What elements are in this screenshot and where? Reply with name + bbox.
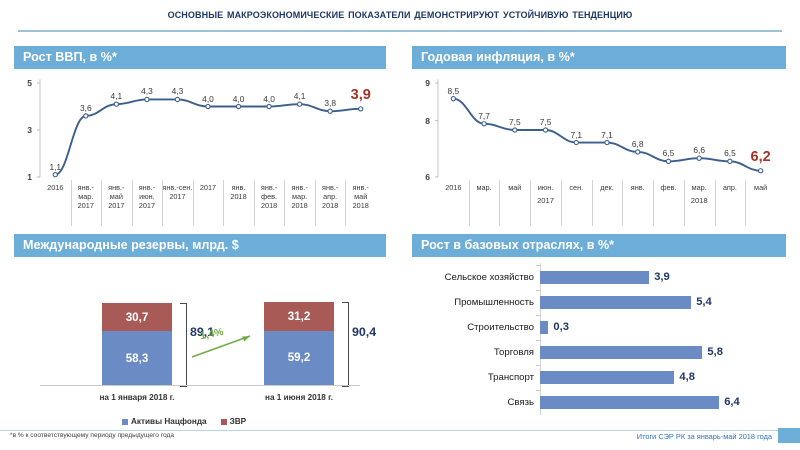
gdp-category-label: янв.-сен. 2017 bbox=[162, 183, 193, 201]
inflation-category-label: сен. bbox=[561, 183, 592, 192]
gdp-point-label: 4,3 bbox=[160, 86, 194, 96]
gdp-category-label: янв.- мар. 2018 bbox=[284, 183, 315, 210]
gdp-category-label: янв.- июн. 2017 bbox=[132, 183, 163, 210]
sector-bar bbox=[540, 396, 719, 409]
legend-item: ЗВР bbox=[221, 417, 247, 426]
gdp-category-separator bbox=[101, 180, 102, 226]
gdp-point-label: 3,6 bbox=[69, 103, 103, 113]
inflation-category-label: янв. bbox=[622, 183, 653, 192]
panel-gdp-growth: Рост ВВП, в %* 5311,13,64,14,34,34,04,04… bbox=[14, 46, 386, 239]
sector-value-label: 5,4 bbox=[691, 296, 712, 308]
sector-name-label: Промышленность bbox=[412, 297, 540, 308]
gdp-category-separator bbox=[162, 180, 163, 226]
inflation-category-label: май bbox=[499, 183, 530, 192]
panel-gdp-header: Рост ВВП, в %* bbox=[14, 46, 386, 69]
gdp-category-separator bbox=[254, 180, 255, 226]
sector-value-label: 3,9 bbox=[649, 271, 670, 283]
inflation-point-label: 7,7 bbox=[467, 111, 501, 121]
slide-root: Основные макроэкономические показатели д… bbox=[0, 0, 800, 450]
footnote: *в % к соответствующему периоду предыдущ… bbox=[10, 432, 174, 439]
gdp-category-separator bbox=[71, 180, 72, 226]
inflation-point-label: 6,5 bbox=[651, 148, 685, 158]
sectors-axis-tick bbox=[536, 290, 541, 291]
gdp-point-label: 4,3 bbox=[130, 86, 164, 96]
sector-bar bbox=[540, 371, 674, 384]
panel-reserves-header: Международные резервы, млрд. $ bbox=[14, 234, 386, 257]
gdp-category-separator bbox=[315, 180, 316, 226]
panel-inflation-header: Годовая инфляция, в %* bbox=[412, 46, 786, 69]
gdp-chart: 5311,13,64,14,34,34,04,04,04,13,83,92016… bbox=[14, 69, 386, 239]
sector-value-label: 0,3 bbox=[548, 321, 569, 333]
sectors-axis-tick bbox=[536, 265, 541, 266]
inflation-point-label: 7,1 bbox=[590, 130, 624, 140]
reserves-growth-arrow bbox=[14, 257, 386, 429]
inflation-point-label: 6,2 bbox=[741, 149, 781, 165]
inflation-point-label: 6,6 bbox=[682, 145, 716, 155]
sector-bar-row: Транспорт4,8 bbox=[412, 369, 786, 385]
inflation-category-label: фев. bbox=[653, 183, 684, 192]
sector-bar bbox=[540, 271, 649, 284]
gdp-point-label: 4,0 bbox=[191, 94, 225, 104]
inflation-point-label: 8,5 bbox=[436, 86, 470, 96]
sector-value-label: 6,4 bbox=[719, 396, 740, 408]
panel-inflation: Годовая инфляция, в %* 9868,57,77,57,57,… bbox=[412, 46, 786, 239]
inflation-chart: 9868,57,77,57,57,17,16,86,56,66,56,22016… bbox=[412, 69, 786, 239]
gdp-point-label: 4,0 bbox=[222, 94, 256, 104]
inflation-point-label: 7,5 bbox=[529, 117, 563, 127]
sectors-axis-tick bbox=[536, 340, 541, 341]
sector-bar-row: Строительство0,3 bbox=[412, 319, 786, 335]
gdp-category-label: янв.- фев. 2018 bbox=[254, 183, 285, 210]
gdp-category-label: янв.- мар. 2017 bbox=[71, 183, 102, 210]
sector-bar-row: Торговля5,8 bbox=[412, 344, 786, 360]
sector-bar bbox=[540, 296, 691, 309]
footer-accent-tab bbox=[778, 428, 800, 443]
gdp-category-separator bbox=[132, 180, 133, 226]
sector-bar-row: Связь6,4 bbox=[412, 394, 786, 410]
sector-name-label: Транспорт bbox=[412, 372, 540, 383]
gdp-category-label: янв.- май 2017 bbox=[101, 183, 132, 210]
sector-name-label: Связь bbox=[412, 397, 540, 408]
gdp-category-label: янв. 2018 bbox=[223, 183, 254, 201]
sectors-chart: Сельское хозяйство3,9Промышленность5,4Ст… bbox=[412, 257, 786, 429]
inflation-category-label: апр. bbox=[715, 183, 746, 192]
gdp-point-label: 1,1 bbox=[38, 162, 72, 172]
footer-divider bbox=[0, 430, 800, 431]
sector-name-label: Сельское хозяйство bbox=[412, 272, 540, 283]
sector-bar-row: Сельское хозяйство3,9 bbox=[412, 269, 786, 285]
sector-value-label: 5,8 bbox=[702, 346, 723, 358]
inflation-category-label: мар. bbox=[684, 183, 715, 192]
sector-value-label: 4,8 bbox=[674, 371, 695, 383]
gdp-category-separator bbox=[345, 180, 346, 226]
inflation-year-group-label: 2018 bbox=[622, 196, 776, 205]
gdp-category-label: 2016 bbox=[40, 183, 71, 192]
sectors-axis bbox=[540, 263, 541, 415]
inflation-point-label: 7,5 bbox=[498, 117, 532, 127]
gdp-point-label: 4,1 bbox=[283, 91, 317, 101]
reserves-chart: 30,758,389,1на 1 января 2018 г.31,259,29… bbox=[14, 257, 386, 429]
panel-sector-growth: Рост в базовых отраслях, в %* Сельское х… bbox=[412, 234, 786, 429]
legend-label: Активы Нацфонда bbox=[131, 417, 207, 426]
inflation-point-label: 6,8 bbox=[621, 139, 655, 149]
gdp-category-label: янв.- май 2018 bbox=[345, 183, 376, 210]
legend-item: Активы Нацфонда bbox=[122, 417, 207, 426]
gdp-point-label: 4,1 bbox=[99, 91, 133, 101]
legend-label: ЗВР bbox=[230, 417, 247, 426]
gdp-category-label: янв.- апр. 2018 bbox=[315, 183, 346, 210]
gdp-category-separator bbox=[223, 180, 224, 226]
sector-name-label: Строительство bbox=[412, 322, 540, 333]
inflation-category-label: 2016 bbox=[438, 183, 469, 192]
sectors-axis-tick bbox=[536, 390, 541, 391]
inflation-point-label: 7,1 bbox=[559, 130, 593, 140]
panel-sectors-header: Рост в базовых отраслях, в %* bbox=[412, 234, 786, 257]
sector-bar-row: Промышленность5,4 bbox=[412, 294, 786, 310]
page-title: Основные макроэкономические показатели д… bbox=[0, 6, 800, 21]
title-divider bbox=[18, 30, 782, 32]
gdp-category-separator bbox=[193, 180, 194, 226]
gdp-point-label: 4,0 bbox=[252, 94, 286, 104]
gdp-category-separator bbox=[284, 180, 285, 226]
reserves-legend: Активы НацфондаЗВР bbox=[122, 417, 246, 426]
inflation-category-label: май bbox=[745, 183, 776, 192]
inflation-category-label: дек. bbox=[592, 183, 623, 192]
gdp-point-label: 3,9 bbox=[341, 87, 381, 103]
gdp-category-label: 2017 bbox=[193, 183, 224, 192]
footer-source: Итоги СЭР РК за январь-май 2018 года bbox=[637, 432, 772, 441]
sector-name-label: Торговля bbox=[412, 347, 540, 358]
inflation-year-group-label: 2017 bbox=[469, 196, 623, 205]
panel-international-reserves: Международные резервы, млрд. $ 30,758,38… bbox=[14, 234, 386, 429]
inflation-category-label: июн. bbox=[530, 183, 561, 192]
sector-bar bbox=[540, 346, 702, 359]
sectors-axis-tick bbox=[536, 315, 541, 316]
sectors-axis-tick bbox=[536, 365, 541, 366]
sector-bar bbox=[540, 321, 548, 334]
legend-swatch bbox=[221, 419, 227, 425]
inflation-category-label: мар. bbox=[469, 183, 500, 192]
legend-swatch bbox=[122, 419, 128, 425]
